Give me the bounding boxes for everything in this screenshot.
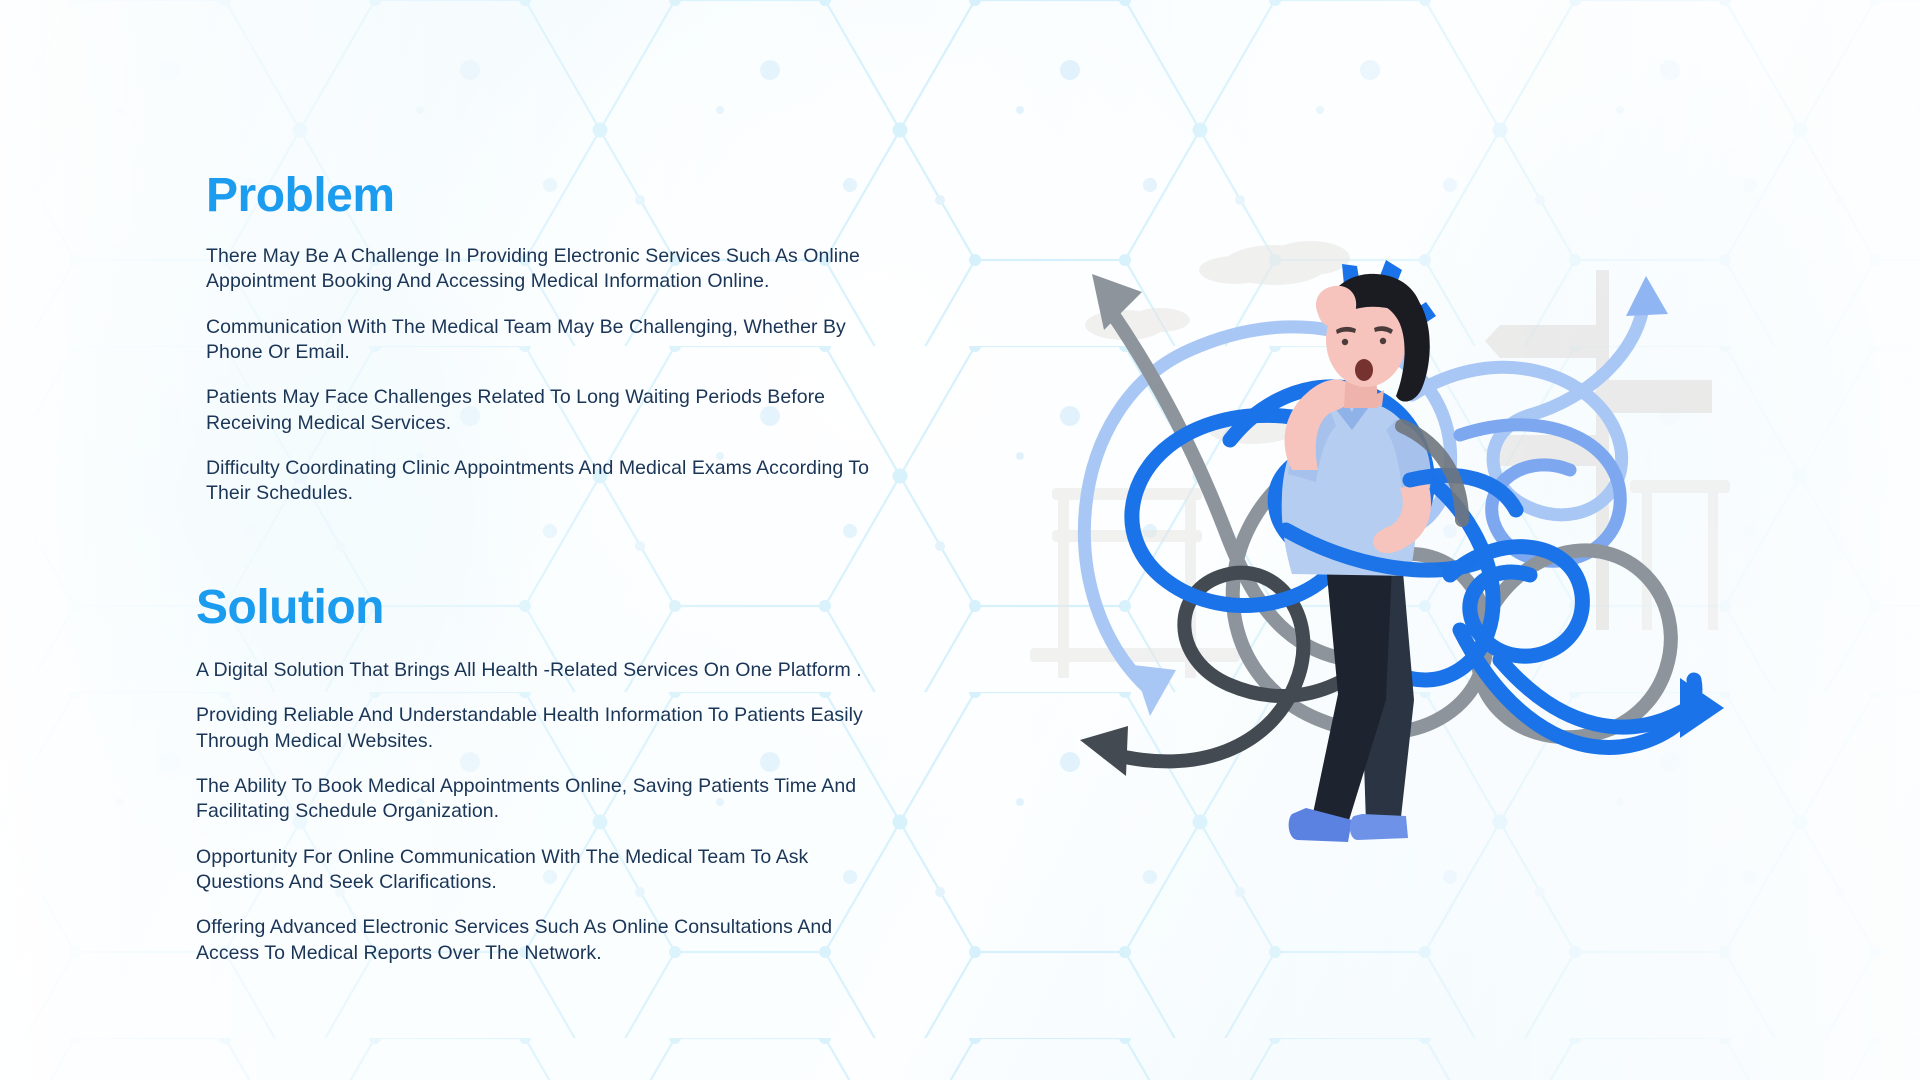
problem-bullet-2: Communication With The Medical Team May … [206,315,886,366]
slide-root: Problem There May Be A Challenge In Prov… [0,0,1920,1080]
problem-heading: Problem [206,172,906,220]
solution-bullet-2: Providing Reliable And Understandable He… [196,703,876,754]
problem-bullet-4: Difficulty Coordinating Clinic Appointme… [206,456,886,507]
person-figure [1282,260,1436,842]
person-shoe-back [1350,814,1408,840]
solution-bullet-3: The Ability To Book Medical Appointments… [196,774,876,825]
arrowhead-light-blue-left [1133,665,1176,716]
person-mouth [1355,359,1373,381]
solution-bullet-4: Opportunity For Online Communication Wit… [196,845,876,896]
confused-person-tangled-arrows-illustration [1030,230,1730,880]
content-column: Problem There May Be A Challenge In Prov… [196,0,896,1080]
problem-section: Problem There May Be A Challenge In Prov… [206,172,906,507]
arrowhead-dark-gray-lowerleft [1080,726,1128,776]
problem-bullet-list: There May Be A Challenge In Providing El… [206,244,906,507]
arrowhead-light-blue-right [1626,276,1668,316]
solution-bullet-1: A Digital Solution That Brings All Healt… [196,658,876,683]
problem-bullet-3: Patients May Face Challenges Related To … [206,385,886,436]
solution-section: Solution A Digital Solution That Brings … [196,584,896,966]
problem-bullet-1: There May Be A Challenge In Providing El… [206,244,886,295]
solution-bullet-5: Offering Advanced Electronic Services Su… [196,915,876,966]
solution-bullet-list: A Digital Solution That Brings All Healt… [196,658,896,966]
solution-heading: Solution [196,584,896,632]
